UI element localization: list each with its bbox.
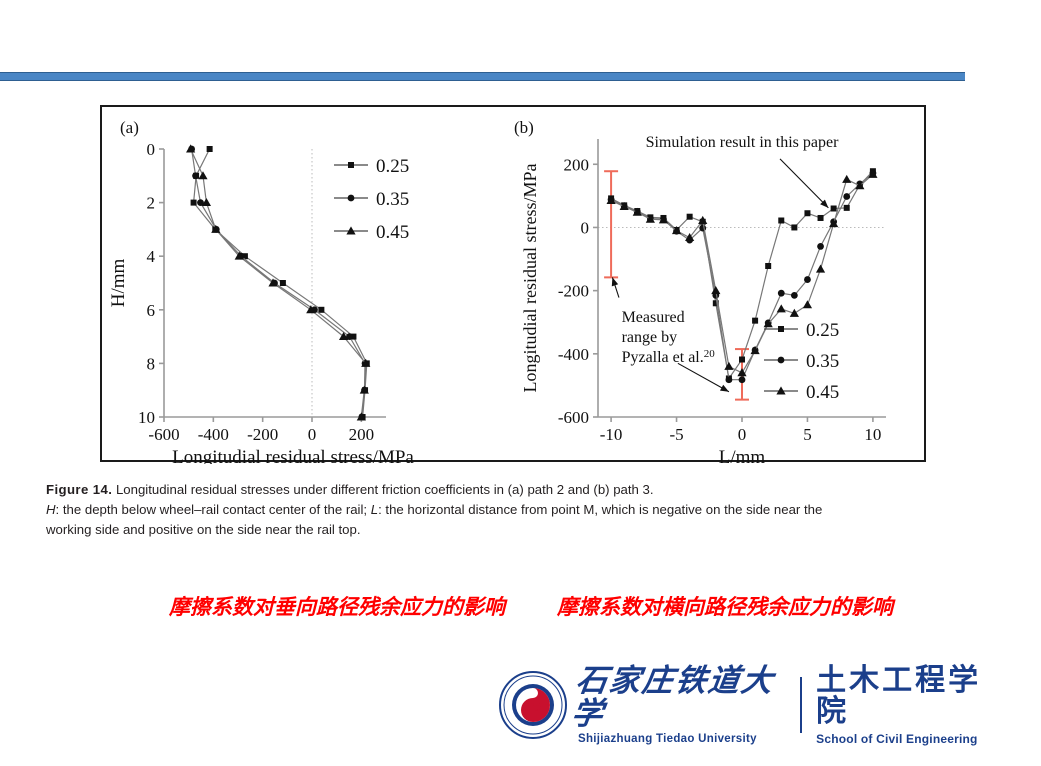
data-point-marker xyxy=(726,376,733,383)
x-axis-tick-label: 0 xyxy=(738,425,747,444)
caption-l-symbol: L xyxy=(371,502,378,517)
y-axis-tick-label: -400 xyxy=(558,345,589,364)
slide-canvas: (a)0246810-600-400-2000200Longitudial re… xyxy=(0,0,1041,766)
error-bar xyxy=(604,171,618,277)
caption-line-3: working side and positive on the side ne… xyxy=(46,520,996,540)
callout-label: range by xyxy=(622,329,678,346)
panel-b-svg: (b)-600-400-2000200-10-50510L/mmLongitud… xyxy=(502,107,924,464)
data-point-marker xyxy=(804,276,811,283)
logo-divider xyxy=(800,677,802,733)
data-point-marker xyxy=(804,210,810,216)
chart-callout: Simulation result in this paper xyxy=(646,134,840,208)
data-series xyxy=(188,146,368,421)
x-axis-title: Longitudial residual stress/MPa xyxy=(172,447,414,464)
x-axis-tick-label: 10 xyxy=(864,425,881,444)
legend-label: 0.45 xyxy=(806,382,839,403)
data-point-marker xyxy=(791,292,798,299)
legend-label: 0.45 xyxy=(376,222,409,243)
data-point-marker xyxy=(817,243,824,250)
chart-legend: 0.250.350.45 xyxy=(334,156,409,243)
x-axis-tick-label: 0 xyxy=(308,425,317,444)
panel-label: (b) xyxy=(514,118,534,137)
university-name-en: Shijiazhuang Tiedao University xyxy=(574,733,786,745)
callout-label: Pyzalla et al.20 xyxy=(622,348,716,366)
school-name-block: 土木工程学院 School of Civil Engineering xyxy=(816,665,998,746)
data-point-marker xyxy=(198,171,207,179)
legend-label: 0.25 xyxy=(806,320,839,341)
data-point-marker xyxy=(778,290,785,297)
callout-arrow-line xyxy=(780,159,828,208)
y-axis-tick-label: 2 xyxy=(147,194,156,213)
data-point-marker xyxy=(711,286,720,294)
callout-arrow-line xyxy=(678,363,729,391)
caption-line-2b-text: : the horizontal distance from point M, … xyxy=(378,502,822,517)
y-axis-tick-label: 0 xyxy=(147,140,156,159)
school-name-cn: 土木工程学院 xyxy=(816,665,998,728)
series-line xyxy=(191,149,366,417)
data-point-marker xyxy=(778,326,784,332)
y-axis-tick-label: 6 xyxy=(147,301,156,320)
y-axis-tick-label: 200 xyxy=(564,155,590,174)
chart-callout: Measuredrange byPyzalla et al.20 xyxy=(612,277,729,391)
data-series xyxy=(191,146,370,420)
data-point-marker xyxy=(739,357,745,363)
data-point-marker xyxy=(687,214,693,220)
legend-label: 0.35 xyxy=(376,189,409,210)
caption-figure-label: Figure 14. xyxy=(46,482,112,497)
svg-text:JD: JD xyxy=(524,699,542,714)
caption-line-2a-text: : the depth below wheel–rail contact cen… xyxy=(56,502,371,517)
y-axis-tick-label: 4 xyxy=(147,247,156,266)
annotation-right-text: 摩擦系数对横向路径残余应力的影响 xyxy=(557,591,893,621)
data-point-marker xyxy=(777,304,786,312)
university-name-cn: 石家庄铁道大学 xyxy=(569,665,790,730)
chart-panel-b: (b)-600-400-2000200-10-50510L/mmLongitud… xyxy=(502,107,924,460)
caption-h-symbol: H xyxy=(46,502,56,517)
series-line xyxy=(611,171,873,378)
figure-caption: Figure 14. Longitudinal residual stresse… xyxy=(46,480,996,540)
y-axis-tick-label: -200 xyxy=(558,282,589,301)
data-point-marker xyxy=(831,206,837,212)
data-point-marker xyxy=(843,193,850,200)
data-point-marker xyxy=(348,162,354,168)
x-axis-tick-label: -400 xyxy=(198,425,229,444)
data-point-marker xyxy=(191,200,197,206)
callout-label: Measured xyxy=(622,309,685,326)
header-accent-bar xyxy=(0,72,965,81)
chart-panel-a: (a)0246810-600-400-2000200Longitudial re… xyxy=(102,107,502,460)
data-point-marker xyxy=(192,172,199,179)
caption-line-2: H: the depth below wheel–rail contact ce… xyxy=(46,500,996,520)
legend-label: 0.25 xyxy=(376,156,409,177)
data-point-marker xyxy=(318,307,324,313)
data-point-marker xyxy=(778,357,785,364)
data-point-marker xyxy=(207,146,213,152)
x-axis-tick-label: 5 xyxy=(803,425,812,444)
annotation-row: 摩擦系数对垂向路径残余应力的影响摩擦系数对横向路径残余应力的影响 xyxy=(0,566,1041,646)
caption-line-1: Figure 14. Longitudinal residual stresse… xyxy=(46,480,996,500)
school-name-en: School of Civil Engineering xyxy=(816,732,998,746)
university-seal-icon: JD xyxy=(498,670,568,740)
data-point-marker xyxy=(842,175,851,183)
university-name-block: 石家庄铁道大学 Shijiazhuang Tiedao University xyxy=(574,665,786,745)
institution-logo: JD 石家庄铁道大学 Shijiazhuang Tiedao Universit… xyxy=(498,668,998,742)
figure-14-container: (a)0246810-600-400-2000200Longitudial re… xyxy=(100,105,926,462)
panel-a-svg: (a)0246810-600-400-2000200Longitudial re… xyxy=(102,107,502,464)
callout-arrow-head xyxy=(720,385,729,392)
data-point-marker xyxy=(818,215,824,221)
y-axis-tick-label: 0 xyxy=(581,218,590,237)
data-point-marker xyxy=(280,280,286,286)
data-point-marker xyxy=(791,224,797,230)
series-line xyxy=(192,149,365,417)
x-axis-tick-label: -200 xyxy=(247,425,278,444)
data-point-marker xyxy=(778,218,784,224)
y-axis-title: H/mm xyxy=(108,259,129,308)
x-axis-tick-label: -5 xyxy=(669,425,683,444)
data-series xyxy=(186,144,370,420)
data-point-marker xyxy=(765,263,771,269)
x-axis-tick-label: -600 xyxy=(148,425,179,444)
annotation-left-text: 摩擦系数对垂向路径残余应力的影响 xyxy=(169,591,505,621)
x-axis-tick-label: -10 xyxy=(600,425,623,444)
chart-legend: 0.250.350.45 xyxy=(764,320,839,403)
x-axis-tick-label: 200 xyxy=(349,425,375,444)
data-point-marker xyxy=(348,195,355,202)
y-axis-tick-label: 8 xyxy=(147,354,156,373)
caption-line-1-text: Longitudinal residual stresses under dif… xyxy=(112,482,653,497)
x-axis-title: L/mm xyxy=(719,447,766,464)
data-point-marker xyxy=(829,219,838,227)
data-point-marker xyxy=(803,300,812,308)
callout-label: Simulation result in this paper xyxy=(646,134,840,151)
data-point-marker xyxy=(816,265,825,273)
y-axis-title: Longitudial residual stress/MPa xyxy=(520,164,540,393)
callout-arrow-head xyxy=(612,277,618,286)
legend-label: 0.35 xyxy=(806,351,839,372)
y-axis-tick-label: -600 xyxy=(558,408,589,427)
data-point-marker xyxy=(752,318,758,324)
data-point-marker xyxy=(739,376,746,383)
data-point-marker xyxy=(844,205,850,211)
panel-label: (a) xyxy=(120,118,139,137)
